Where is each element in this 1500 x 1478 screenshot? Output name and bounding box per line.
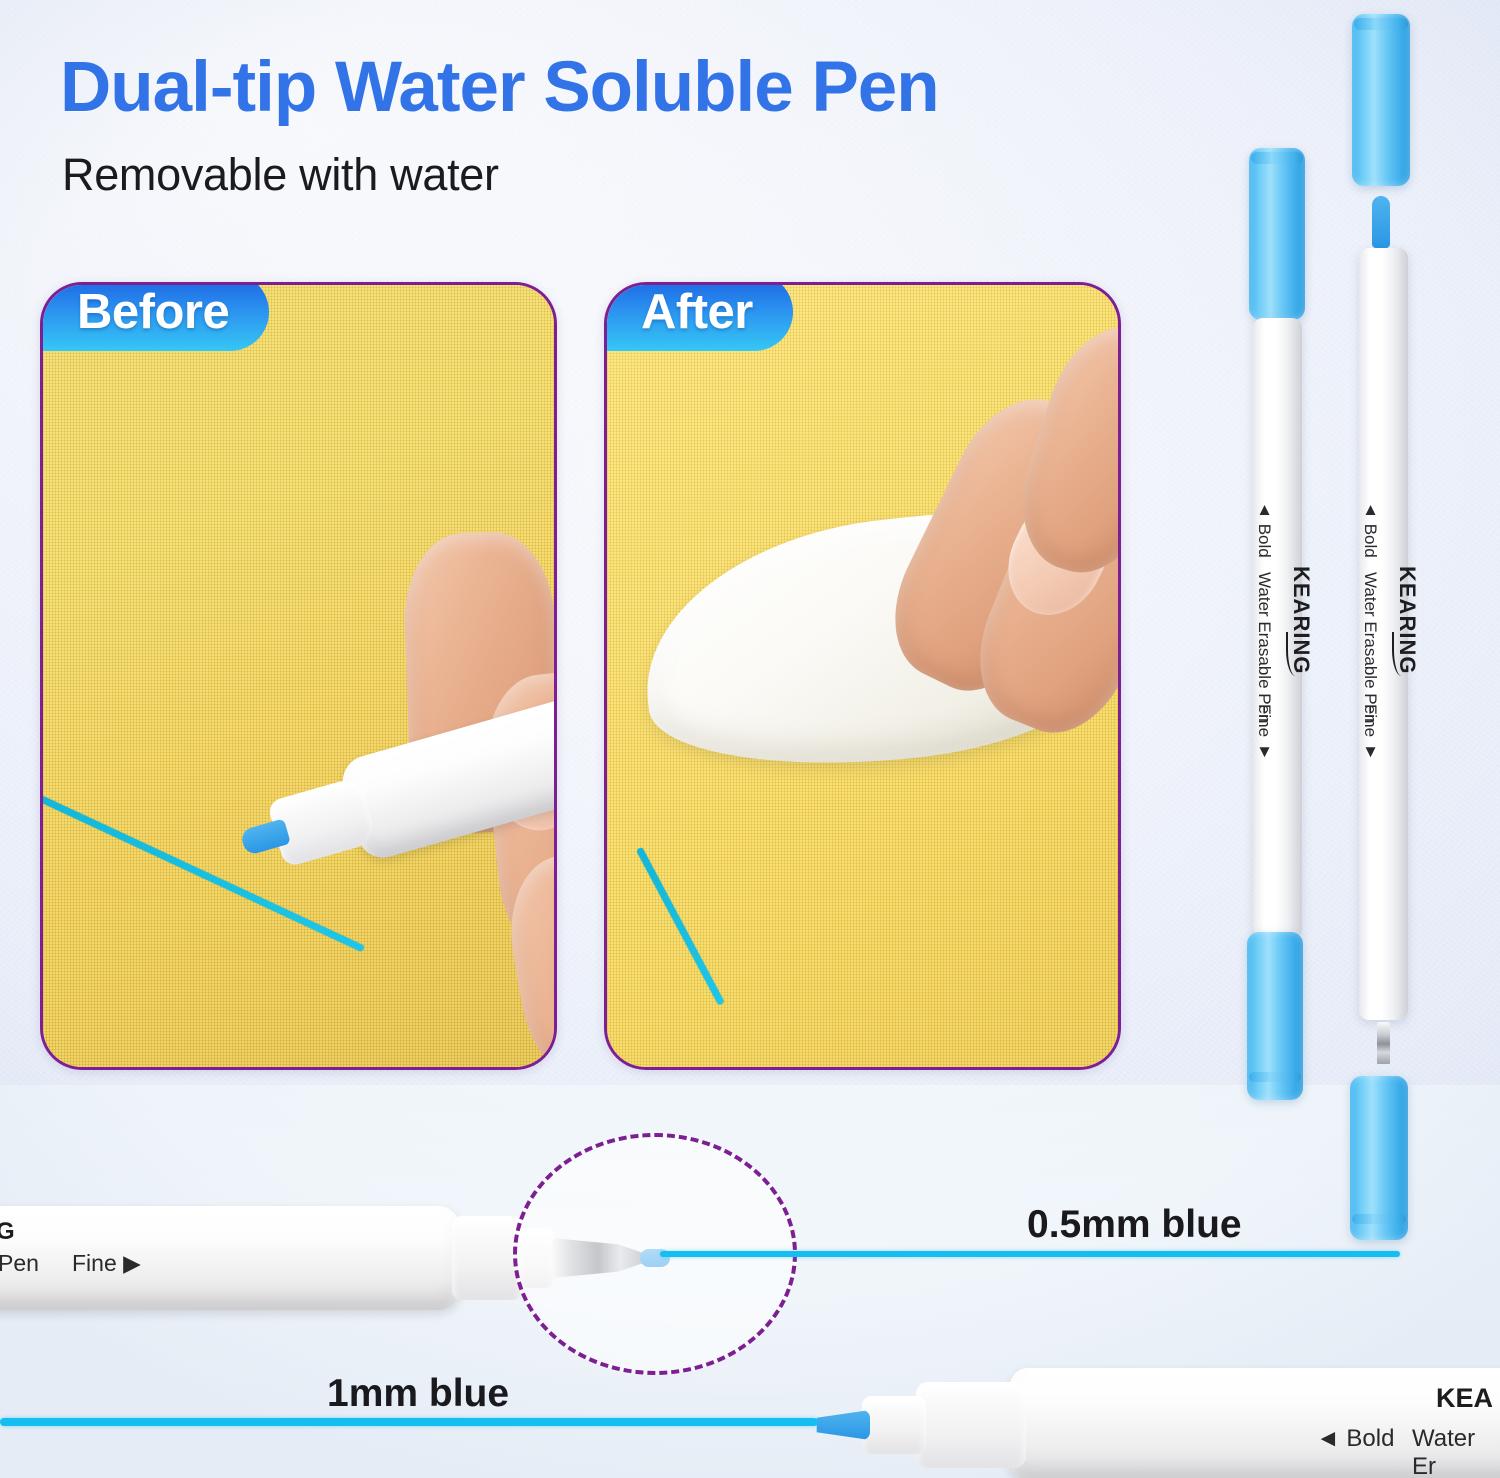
pen-bold-label: ◄ Bold — [1316, 1425, 1394, 1453]
pen-bold-label: ▲ Bold — [1254, 500, 1274, 558]
pen-type-label: Water Erasable Pen — [1360, 572, 1380, 724]
brand-swoosh — [1392, 632, 1408, 676]
pen-cap-top — [1249, 148, 1305, 320]
brand-swoosh — [1286, 632, 1302, 676]
pen-bold-tip-exposed — [1372, 196, 1390, 248]
pen-cap-floating-top — [1352, 14, 1410, 186]
pen-front-step — [916, 1382, 1026, 1468]
pen-cap-ring — [1251, 152, 1303, 164]
pen-cap-floating-ring — [1354, 18, 1408, 30]
pen-type-partial: Pen — [0, 1250, 39, 1277]
pen-cap-bottom-ring — [1249, 1072, 1301, 1082]
pen-cap-floating-bottom-ring — [1352, 1214, 1406, 1224]
fine-line-stroke — [660, 1251, 1400, 1257]
pen-type-label: Water Erasable Pen — [1254, 572, 1274, 724]
page-subtitle: Removable with water — [62, 152, 499, 197]
before-badge: Before — [40, 282, 269, 351]
page-title: Dual-tip Water Soluble Pen — [60, 52, 939, 123]
before-card: Before — [40, 282, 557, 1070]
product-infographic: Dual-tip Water Soluble Pen Removable wit… — [0, 0, 1500, 1478]
bold-measure-label: 1mm blue — [327, 1372, 509, 1416]
pen-fine-label: Fine ▶ — [72, 1250, 141, 1277]
pen-brand-partial: KEA — [1436, 1383, 1493, 1414]
pen-fine-label: Fine ▼ — [1254, 704, 1274, 761]
pen-barrel — [0, 1206, 460, 1310]
bold-line-stroke — [0, 1418, 818, 1426]
pen-type-partial: Water Er — [1412, 1425, 1500, 1478]
pen-fine-metal-tip — [1377, 1022, 1390, 1064]
after-card: After — [604, 282, 1121, 1070]
pen-brand-partial: G — [0, 1218, 15, 1246]
pen-fine-label: Fine ▼ — [1360, 704, 1380, 761]
pen-front-step — [452, 1216, 522, 1300]
pen-front-collar — [862, 1396, 926, 1454]
after-badge: After — [604, 282, 793, 351]
fine-measure-label: 0.5mm blue — [1027, 1203, 1242, 1247]
pen-bold-label: ▲ Bold — [1360, 500, 1380, 558]
